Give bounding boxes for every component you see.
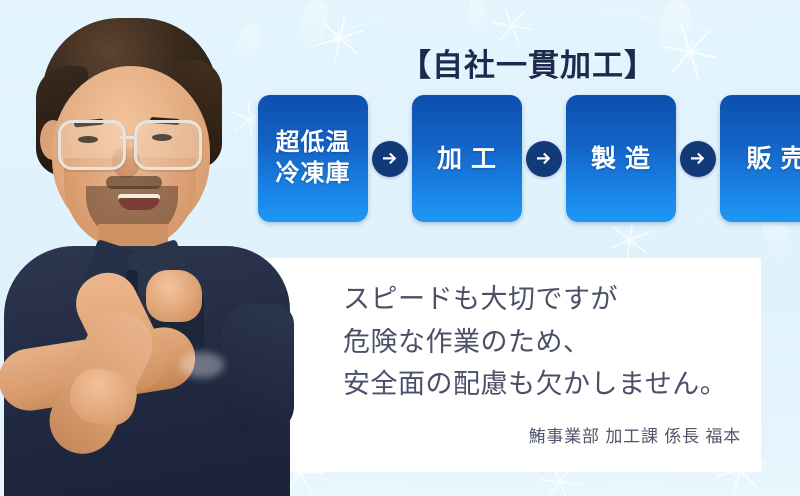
process-step-manufacturing[interactable]: 製 造 <box>566 95 676 222</box>
quote-line: スピードも大切ですが <box>343 278 763 321</box>
quote-text: スピードも大切ですが 危険な作業のため、 安全面の配慮も欠かしません。 <box>343 278 763 406</box>
eyeglasses-icon <box>58 120 126 170</box>
process-step-label-line1: 超低温 <box>276 128 351 159</box>
ice-shard <box>466 0 492 43</box>
arrow-right-icon <box>526 141 562 177</box>
quote-line: 安全面の配慮も欠かしません。 <box>343 363 763 406</box>
process-step-label-line1: 製 造 <box>591 143 651 175</box>
frost-streak <box>320 479 459 495</box>
process-step-label-line2: 冷凍庫 <box>276 159 351 190</box>
staff-portrait-photo <box>0 8 294 496</box>
quote-line: 危険な作業のため、 <box>343 321 763 364</box>
process-step-processing[interactable]: 加 工 <box>412 95 522 222</box>
arrow-right-icon <box>372 141 408 177</box>
process-flow: 超低温 冷凍庫 加 工 製 造 販 売 <box>258 95 800 222</box>
process-step-coldstorage[interactable]: 超低温 冷凍庫 <box>258 95 368 222</box>
process-step-sales[interactable]: 販 売 <box>720 95 800 222</box>
promo-banner: 【自社一貫加工】 超低温 冷凍庫 加 工 製 造 <box>0 0 800 496</box>
page-title: 【自社一貫加工】 <box>398 40 658 85</box>
process-step-label-line1: 販 売 <box>747 143 800 175</box>
eyeglasses-icon <box>134 120 202 170</box>
process-step-label-line1: 加 工 <box>437 143 497 175</box>
quote-attribution: 鮪事業部 加工課 係長 福本 <box>343 422 741 447</box>
arrow-right-icon <box>680 141 716 177</box>
